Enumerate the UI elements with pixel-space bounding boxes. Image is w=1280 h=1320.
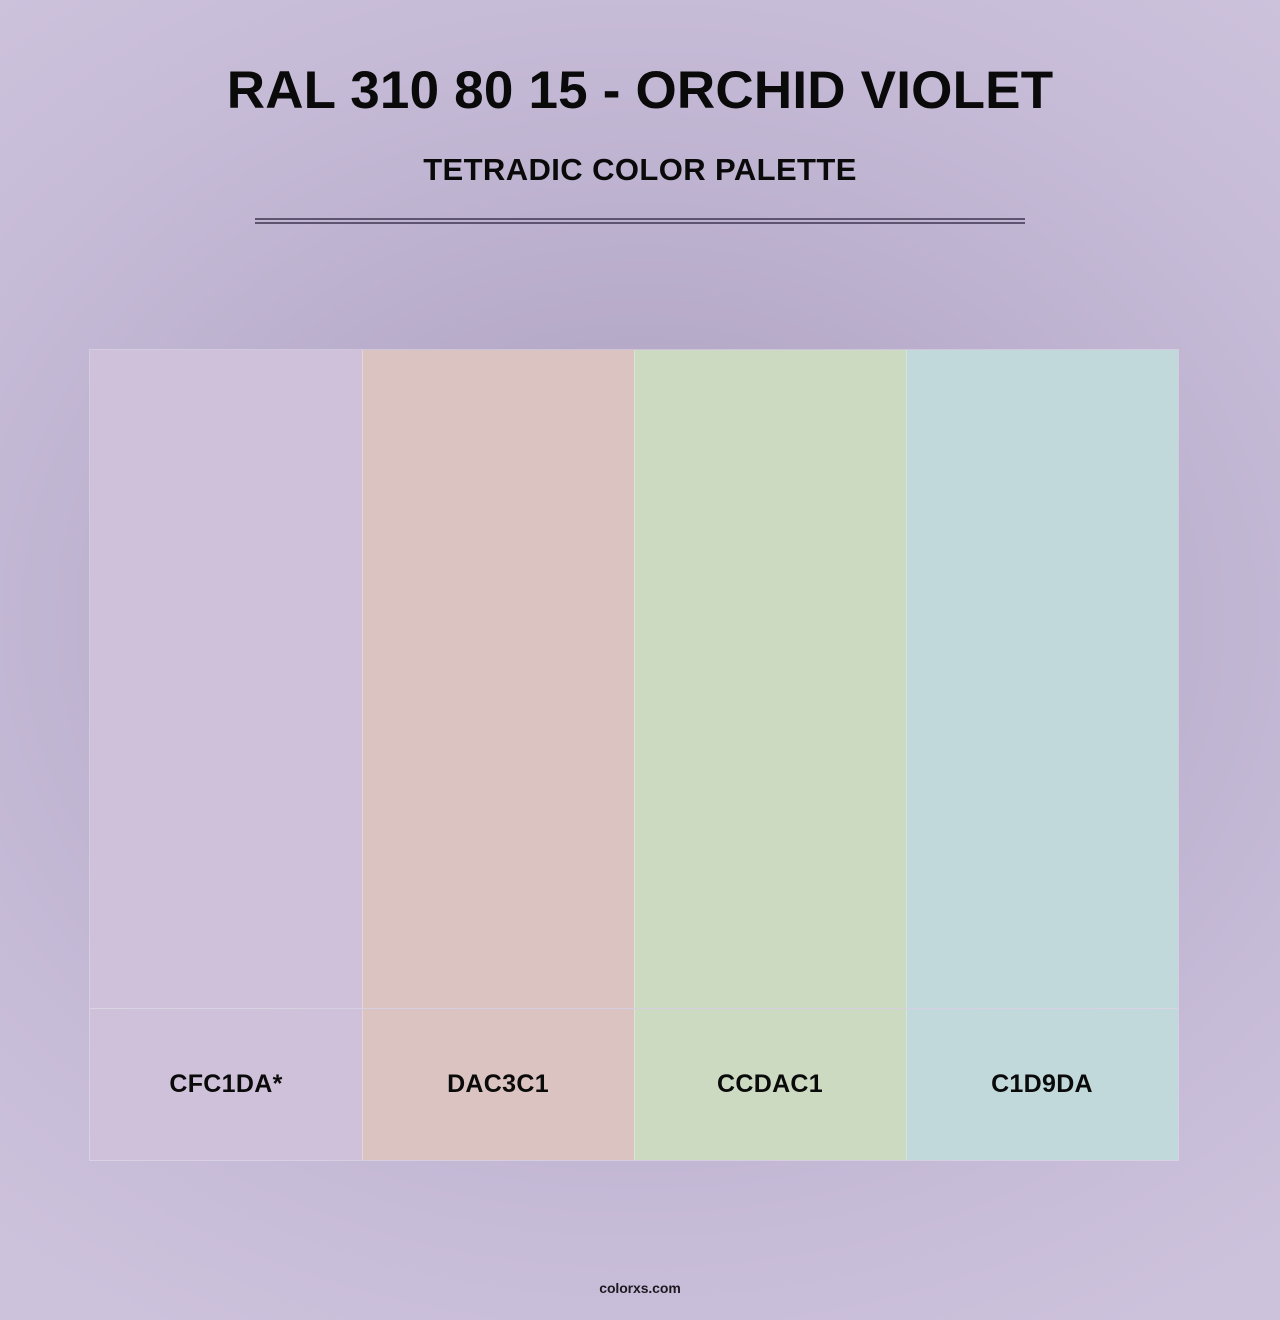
swatch-hex-label-2: DAC3C1	[447, 1070, 549, 1099]
site-credit: colorxs.com	[599, 1280, 680, 1296]
header-divider	[255, 218, 1025, 224]
swatch-label-cell-2[interactable]: DAC3C1	[362, 1009, 634, 1160]
swatch-label-row: CFC1DA* DAC3C1 CCDAC1 C1D9DA	[90, 1008, 1178, 1160]
swatch-hex-label-3: CCDAC1	[717, 1070, 823, 1099]
swatch-1[interactable]	[90, 350, 362, 1008]
page-subtitle: TETRADIC COLOR PALETTE	[423, 154, 857, 185]
swatch-2[interactable]	[362, 350, 634, 1008]
color-palette: CFC1DA* DAC3C1 CCDAC1 C1D9DA	[90, 350, 1178, 1160]
page-footer: colorxs.com	[0, 1280, 1280, 1298]
page-title: RAL 310 80 15 - ORCHID VIOLET	[227, 64, 1054, 117]
swatch-label-cell-4[interactable]: C1D9DA	[906, 1009, 1178, 1160]
swatch-3[interactable]	[634, 350, 906, 1008]
swatch-label-cell-1[interactable]: CFC1DA*	[90, 1009, 362, 1160]
swatch-4[interactable]	[906, 350, 1178, 1008]
swatch-hex-label-4: C1D9DA	[991, 1070, 1093, 1099]
palette-page: RAL 310 80 15 - ORCHID VIOLET TETRADIC C…	[0, 0, 1280, 1320]
swatch-label-cell-3[interactable]: CCDAC1	[634, 1009, 906, 1160]
page-header: RAL 310 80 15 - ORCHID VIOLET TETRADIC C…	[0, 0, 1280, 224]
swatch-row	[90, 350, 1178, 1008]
swatch-hex-label-1: CFC1DA*	[169, 1070, 282, 1099]
